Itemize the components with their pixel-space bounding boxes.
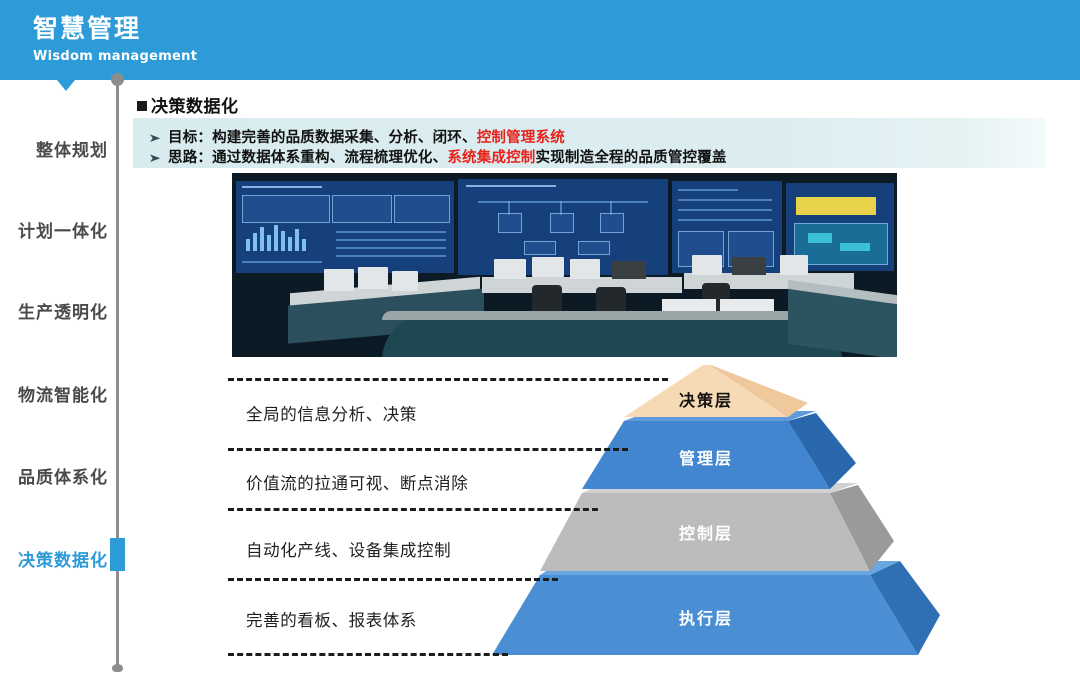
info-row-approach-text-2: 实现制造全程的品质管控覆盖 xyxy=(536,150,727,166)
row-label-0: 全局的信息分析、决策 xyxy=(246,401,417,425)
control-room-photo xyxy=(232,173,897,357)
sidebar-item-1[interactable]: 计划一体化 xyxy=(0,217,108,242)
info-row-target: ➤目标：构建完善的品质数据采集、分析、闭环、控制管理系统 xyxy=(150,126,565,147)
square-bullet-icon xyxy=(137,101,147,111)
info-row-approach: ➤思路：通过数据体系重构、流程梳理优化、系统集成控制实现制造全程的品质管控覆盖 xyxy=(150,146,727,167)
pyramid-layer-label-4: 执行层 xyxy=(656,605,756,629)
sidebar-item-2[interactable]: 生产透明化 xyxy=(0,298,108,323)
timeline-top-dot-icon xyxy=(111,73,124,86)
page-subtitle: Wisdom management xyxy=(33,49,197,64)
info-box: ➤目标：构建完善的品质数据采集、分析、闭环、控制管理系统 ➤思路：通过数据体系重… xyxy=(133,118,1045,168)
layer-diagram: 决策层 管理层 控制层 执行层 全局的信息分析、决策 价值流的拉通可视、断点消除… xyxy=(0,360,1080,675)
pyramid-layer-label-2: 管理层 xyxy=(656,445,756,469)
pyramid-layer-label-1: 决策层 xyxy=(656,387,756,411)
dash-line-2 xyxy=(228,508,598,511)
info-row-target-text-0: 目标：构建完善的品质数据采集、分析、闭环、 xyxy=(168,130,477,146)
section-title-text: 决策数据化 xyxy=(151,97,239,117)
dash-line-4 xyxy=(228,653,508,656)
page-title: 智慧管理 xyxy=(33,15,141,43)
section-title: 决策数据化 xyxy=(137,92,239,117)
pyramid-layer-label-3: 控制层 xyxy=(656,520,756,544)
row-label-1: 价值流的拉通可视、断点消除 xyxy=(246,470,468,494)
info-row-approach-text-0: 思路：通过数据体系重构、流程梳理优化、 xyxy=(168,150,447,166)
header-pointer-triangle-icon xyxy=(57,80,75,91)
dash-line-0 xyxy=(228,378,668,381)
row-label-2: 自动化产线、设备集成控制 xyxy=(246,537,451,561)
info-row-target-text-1: 控制管理系统 xyxy=(477,130,565,146)
arrow-bullet-icon: ➤ xyxy=(148,151,164,165)
arrow-bullet-icon: ➤ xyxy=(148,131,164,145)
sidebar-item-0[interactable]: 整体规划 xyxy=(0,136,108,161)
dash-line-3 xyxy=(228,578,558,581)
dash-line-1 xyxy=(228,448,628,451)
row-label-3: 完善的看板、报表体系 xyxy=(246,607,417,631)
pyramid-graphic: 决策层 管理层 控制层 执行层 xyxy=(470,365,940,665)
info-row-approach-text-1: 系统集成控制 xyxy=(447,150,535,166)
header-band xyxy=(0,0,1080,80)
